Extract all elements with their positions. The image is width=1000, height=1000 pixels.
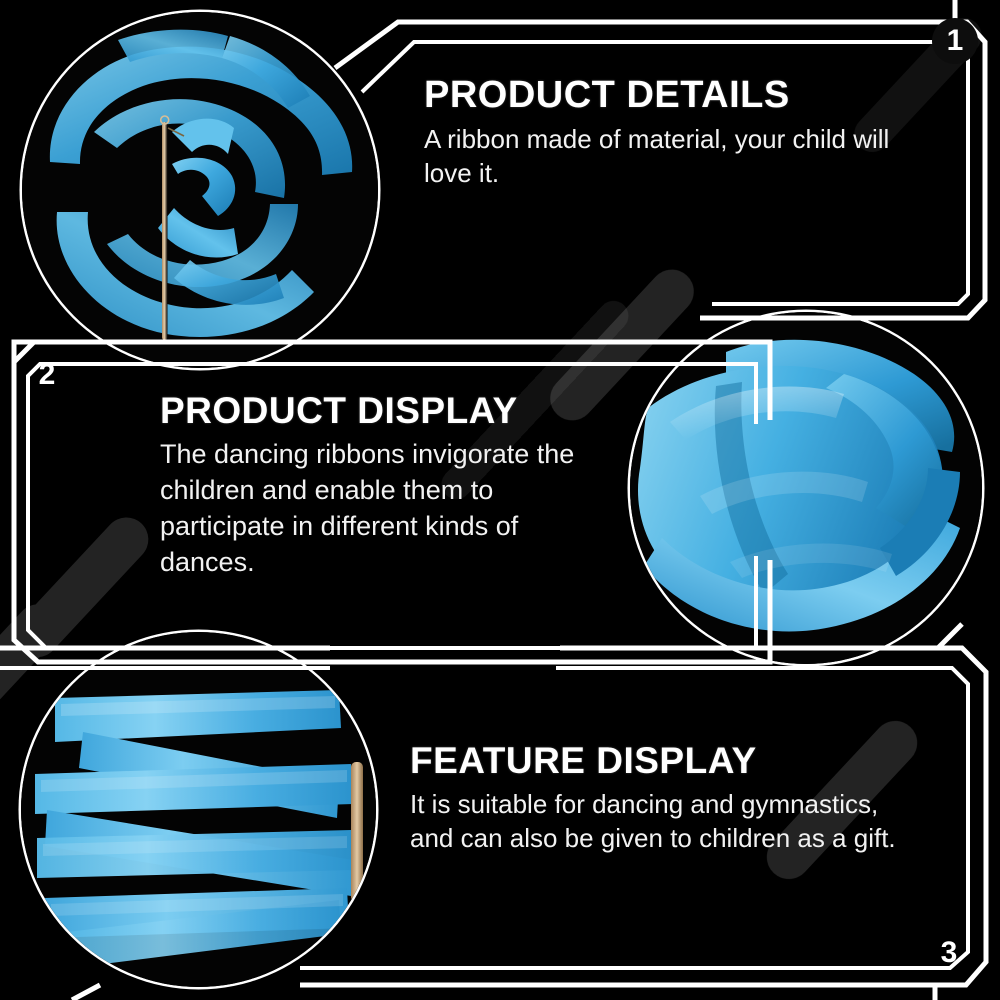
section-1-body: A ribbon made of material, your child wi…	[424, 122, 944, 191]
section-2-photo	[630, 312, 982, 664]
section-3-photo	[21, 632, 376, 987]
section-3-heading: FEATURE DISPLAY	[410, 742, 920, 781]
section-3-text: FEATURE DISPLAY It is suitable for danci…	[410, 742, 920, 856]
section-2-number-badge: 2	[24, 352, 70, 398]
section-3-body: It is suitable for dancing and gymnastic…	[410, 787, 920, 856]
section-2-body: The dancing ribbons invigorate the child…	[160, 437, 600, 581]
section-1-number: 1	[947, 26, 964, 56]
frame-3-stub-bl	[72, 985, 100, 1000]
section-2-heading: PRODUCT DISPLAY	[160, 392, 600, 431]
section-3-number: 3	[941, 938, 958, 968]
zigzag-folded-ribbon-strips-image	[21, 632, 376, 987]
section-1-photo	[22, 12, 378, 368]
blue-ribbon-with-wand-coil-image	[22, 12, 378, 368]
section-2-number: 2	[39, 360, 56, 390]
section-2-text: PRODUCT DISPLAY The dancing ribbons invi…	[160, 392, 600, 580]
folded-satin-ribbon-closeup-image	[630, 312, 982, 664]
section-3-number-badge: 3	[926, 930, 972, 976]
section-1-heading: PRODUCT DETAILS	[424, 76, 944, 116]
section-1-number-badge: 1	[932, 18, 978, 64]
infographic-canvas: 1 2 3 PRODUCT DETAILS A ribbon made of m…	[0, 0, 1000, 1000]
section-1-text: PRODUCT DETAILS A ribbon made of materia…	[424, 76, 944, 191]
